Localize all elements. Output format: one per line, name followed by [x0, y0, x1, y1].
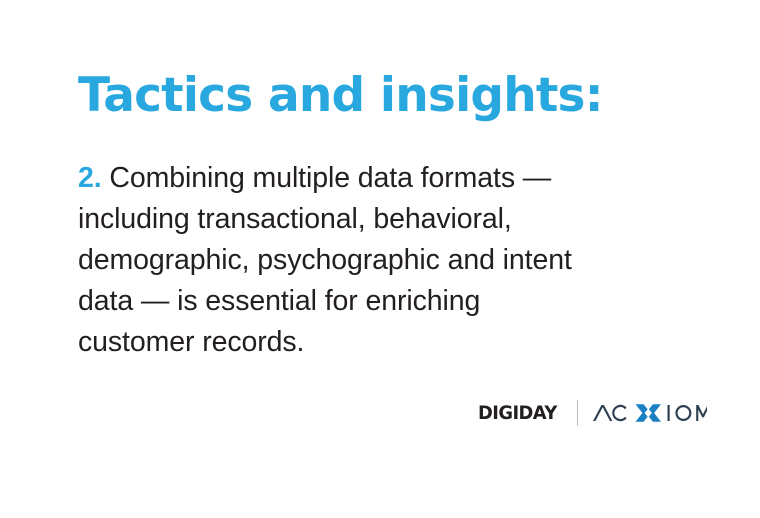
logo-lockup: DIGIDAY ACXIOM — [478, 396, 707, 430]
body-line-4: data — is essential for enriching — [78, 281, 698, 322]
logo-divider — [577, 400, 578, 426]
acxiom-wordmark-icon — [591, 401, 707, 425]
body-line-text: Combining multiple data formats — — [109, 162, 551, 194]
body-line-3: demographic, psychographic and intent — [78, 240, 698, 281]
body-line-2: including transactional, behavioral, — [78, 199, 698, 240]
body-paragraph: 2. Combining multiple data formats — inc… — [78, 158, 698, 363]
slide-canvas: Tactics and insights: 2. Combining multi… — [0, 0, 760, 518]
body-line-1: 2. Combining multiple data formats — — [78, 158, 698, 199]
acxiom-logo: ACXIOM — [591, 401, 707, 425]
page-title: Tactics and insights: — [78, 70, 603, 123]
body-line-5: customer records. — [78, 322, 698, 363]
digiday-logo: DIGIDAY — [478, 404, 557, 423]
list-item-number: 2. — [78, 162, 102, 194]
